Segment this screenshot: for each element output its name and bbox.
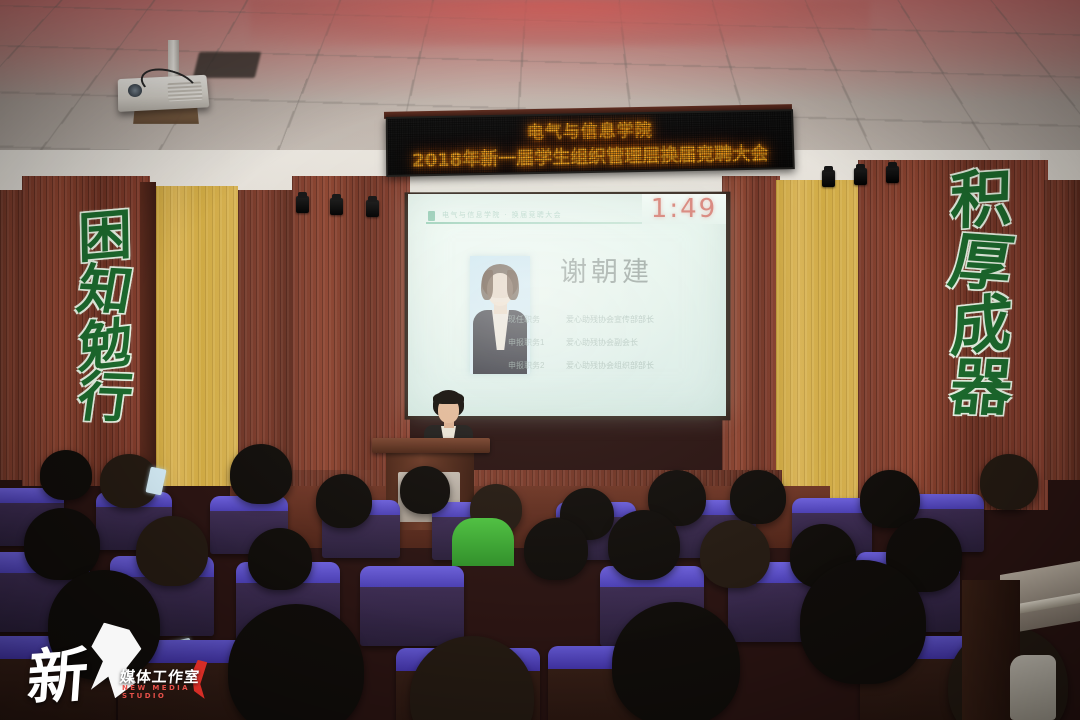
calligraphy-right-char-2: 厚 <box>944 233 1017 296</box>
calligraphy-right: 积 厚 成 器 <box>950 172 1012 419</box>
audience-head <box>730 470 786 524</box>
spotlight-icon <box>366 200 379 217</box>
white-bag <box>1010 655 1056 720</box>
audience-head <box>700 520 770 588</box>
slide-logo-icon <box>428 211 435 221</box>
info-value: 爱心助残协会宣传部部长 <box>566 314 654 325</box>
audience-head <box>230 444 292 504</box>
candidate-name: 谢朝建 <box>560 250 653 289</box>
spotlight-icon <box>886 166 899 183</box>
candidate-info-row: 申报职务1 爱心助残协会副会长 <box>508 337 720 348</box>
info-value: 爱心助残协会组织部部长 <box>566 360 654 371</box>
ceiling-pink-light-cast <box>250 0 870 46</box>
calligraphy-left-char-1: 困 <box>78 210 133 267</box>
calligraphy-left-char-4: 行 <box>74 373 135 426</box>
audience-head <box>228 604 364 720</box>
led-banner-line-1: 电气与信息学院 <box>527 116 653 143</box>
info-label: 申报职务1 <box>508 337 552 348</box>
wall-panel-far-right <box>1044 180 1080 480</box>
photo-hair-right <box>507 270 519 300</box>
slide-timer-value: 1:49 <box>651 194 717 224</box>
audience-head <box>800 560 926 684</box>
calligraphy-right-char-3: 成 <box>949 295 1013 362</box>
calligraphy-left-char-2: 知 <box>74 265 137 319</box>
spotlight-icon <box>296 196 309 213</box>
candidate-info-row: 申报职务2 爱心助残协会组织部部长 <box>508 360 720 371</box>
spotlight-icon <box>822 170 835 187</box>
wall-pillar-left-edge <box>140 182 156 482</box>
audience-green-shirt <box>452 518 514 566</box>
audience-head <box>316 474 372 528</box>
led-banner-line-2: 2018年新一届学生组织管理层换届竞聘大会 <box>412 140 769 173</box>
projection-screen: 电气与信息学院 · 换届竞聘大会 1:49 谢朝建 现任职务 爱心助残协会宣传部… <box>408 194 726 416</box>
watermark-main-char: 新 <box>25 626 92 717</box>
slide-timer: 1:49 <box>642 194 726 224</box>
spotlight-icon <box>330 198 343 215</box>
audience-head <box>980 454 1038 510</box>
audience-head <box>612 602 740 720</box>
slide-header-text: 电气与信息学院 · 换届竞聘大会 <box>442 210 562 220</box>
watermark-sub-text-en: NEW MEDIA STUDIO <box>122 684 214 700</box>
spotlight-icon <box>854 168 867 185</box>
projector-lens <box>128 84 142 97</box>
audience-head <box>400 466 450 514</box>
audience-head <box>608 510 680 580</box>
speaker-hair-fringe <box>433 392 464 404</box>
led-banner: 电气与信息学院 2018年新一届学生组织管理层换届竞聘大会 <box>386 109 795 177</box>
calligraphy-right-char-1: 积 <box>950 170 1013 234</box>
watermark-logo: 新 媒体工作室 NEW MEDIA STUDIO <box>24 622 214 704</box>
audience-head <box>24 508 100 580</box>
photo-hair-left <box>481 270 493 300</box>
candidate-info-row: 现任职务 爱心助残协会宣传部部长 <box>508 314 720 325</box>
audience-head <box>40 450 92 500</box>
info-label: 现任职务 <box>508 314 552 325</box>
calligraphy-left: 困 知 勉 行 <box>78 212 132 425</box>
calligraphy-right-char-4: 器 <box>947 359 1015 419</box>
seat <box>360 566 464 646</box>
candidate-info-rows: 现任职务 爱心助残协会宣传部部长 申报职务1 爱心助残协会副会长 申报职务2 爱… <box>508 314 720 383</box>
audience-head <box>524 518 588 580</box>
audience-head <box>248 528 312 590</box>
auditorium-photo: 困 知 勉 行 积 厚 成 器 电气与信息学院 2018年新一届学生组织管理层换… <box>0 0 1080 720</box>
audience-head <box>136 516 208 586</box>
info-value: 爱心助残协会副会长 <box>566 337 638 348</box>
info-label: 申报职务2 <box>508 360 552 371</box>
